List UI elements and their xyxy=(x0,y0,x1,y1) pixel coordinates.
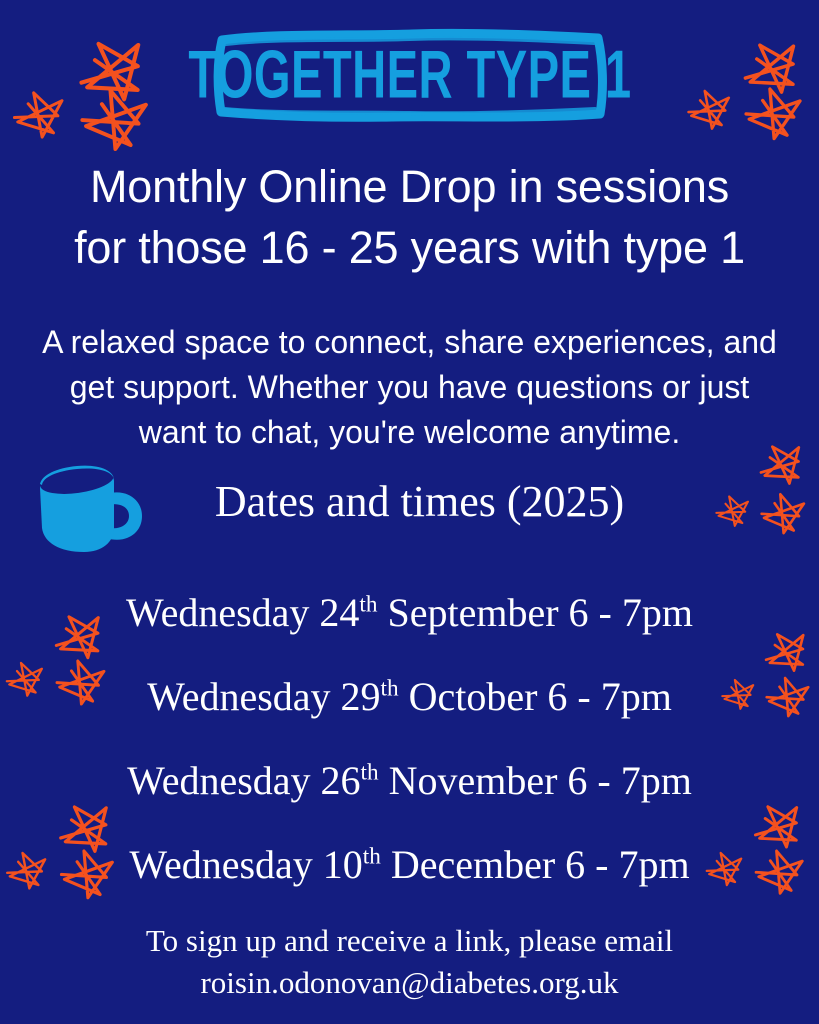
intro-line-1: A relaxed space to connect, share experi… xyxy=(14,320,805,365)
footer-instruction: To sign up and receive a link, please em… xyxy=(0,920,819,962)
date-row: Wednesday 24th September 6 - 7pm xyxy=(0,588,819,638)
logo-text: TOGETHER TYPE 1 xyxy=(188,41,631,108)
dates-header: Dates and times (2025) xyxy=(0,462,819,558)
intro-line-2: get support. Whether you have questions … xyxy=(14,365,805,410)
intro-paragraph: A relaxed space to connect, share experi… xyxy=(14,320,805,455)
date-day: 24 xyxy=(319,590,359,635)
date-time: 6 - 7pm xyxy=(565,842,689,887)
headline-line-1: Monthly Online Drop in sessions xyxy=(0,156,819,217)
contact-email[interactable]: roisin.odonovan@diabetes.org.uk xyxy=(0,962,819,1004)
date-time: 6 - 7pm xyxy=(567,758,691,803)
logo-container: TOGETHER TYPE 1 xyxy=(0,24,819,126)
logo-badge: TOGETHER TYPE 1 xyxy=(212,24,608,126)
date-ordinal: th xyxy=(363,844,381,870)
date-time: 6 - 7pm xyxy=(547,674,671,719)
date-ordinal: th xyxy=(361,760,379,786)
date-time: 6 - 7pm xyxy=(569,590,693,635)
date-weekday: Wednesday xyxy=(127,758,310,803)
date-month: November xyxy=(389,758,558,803)
page-title: Monthly Online Drop in sessions for thos… xyxy=(0,156,819,278)
date-day: 10 xyxy=(323,842,363,887)
date-month: September xyxy=(387,590,558,635)
intro-line-3: want to chat, you're welcome anytime. xyxy=(14,410,805,455)
date-weekday: Wednesday xyxy=(147,674,330,719)
footer: To sign up and receive a link, please em… xyxy=(0,920,819,1004)
dates-section-title: Dates and times (2025) xyxy=(170,470,669,534)
date-day: 26 xyxy=(321,758,361,803)
date-ordinal: th xyxy=(381,676,399,702)
date-day: 29 xyxy=(341,674,381,719)
date-row: Wednesday 29th October 6 - 7pm xyxy=(0,672,819,722)
headline-line-2: for those 16 - 25 years with type 1 xyxy=(0,217,819,278)
date-month: October xyxy=(409,674,538,719)
date-row: Wednesday 26th November 6 - 7pm xyxy=(0,756,819,806)
coffee-mug-icon xyxy=(32,464,144,556)
date-month: December xyxy=(391,842,555,887)
date-weekday: Wednesday xyxy=(129,842,312,887)
dates-list: Wednesday 24th September 6 - 7pm Wednesd… xyxy=(0,588,819,890)
date-row: Wednesday 10th December 6 - 7pm xyxy=(0,840,819,890)
date-weekday: Wednesday xyxy=(126,590,309,635)
poster-root: { "colors": { "background": "#141d80", "… xyxy=(0,0,819,1024)
date-ordinal: th xyxy=(359,592,377,618)
